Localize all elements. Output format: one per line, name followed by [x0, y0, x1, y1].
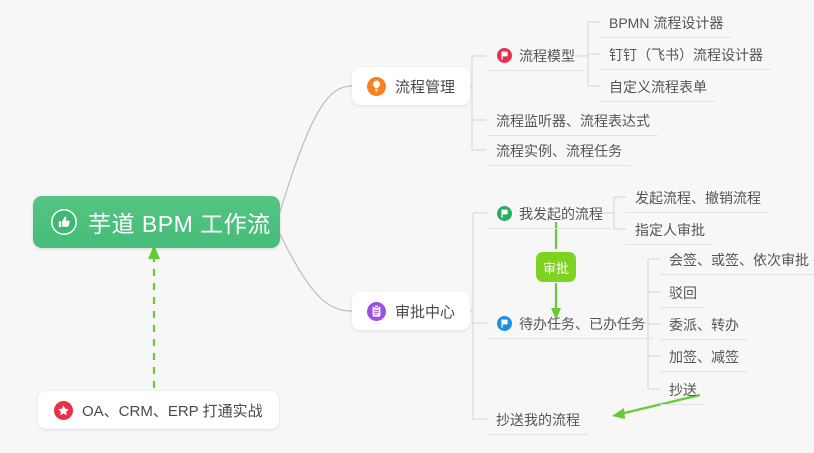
node-process-model[interactable]: 流程模型 [488, 41, 583, 71]
badge-label: 审批 [543, 258, 569, 277]
branch-process-management[interactable]: 流程管理 [352, 67, 470, 105]
node-add-remove-sign[interactable]: 加签、减签 [660, 342, 747, 372]
node-assigned-approval[interactable]: 指定人审批 [626, 215, 713, 245]
node-label: BPMN 流程设计器 [609, 16, 723, 30]
flag-icon [497, 316, 512, 331]
thumbs-up-icon [51, 209, 77, 235]
node-start-cancel-flow[interactable]: 发起流程、撤销流程 [626, 183, 769, 213]
node-cc-to-me-flow[interactable]: 抄送我的流程 [487, 405, 588, 435]
note-integration-practice[interactable]: OA、CRM、ERP 打通实战 [38, 391, 279, 429]
flag-icon [497, 48, 512, 63]
lightbulb-icon [367, 77, 386, 96]
branch-approval-center[interactable]: 审批中心 [352, 292, 470, 330]
node-countersign[interactable]: 会签、或签、依次审批 [660, 245, 814, 275]
node-label: 流程监听器、流程表达式 [496, 114, 650, 128]
node-label: 委派、转办 [669, 318, 739, 332]
node-label: 会签、或签、依次审批 [669, 253, 809, 267]
node-label: 钉钉（飞书）流程设计器 [609, 48, 763, 62]
link-root-to-process-management [280, 86, 352, 212]
branch-label: 审批中心 [395, 301, 455, 322]
node-process-listener[interactable]: 流程监听器、流程表达式 [487, 106, 658, 136]
note-label: OA、CRM、ERP 打通实战 [82, 400, 263, 421]
node-dingtalk-designer[interactable]: 钉钉（飞书）流程设计器 [600, 40, 771, 70]
emphasis-badge-approval[interactable]: 审批 [536, 252, 576, 282]
mindmap-canvas: 芋道 BPM 工作流 流程管理 流程模型 BPMN 流程设计器 钉钉（飞书）流程… [0, 0, 814, 453]
node-bpmn-designer[interactable]: BPMN 流程设计器 [600, 8, 731, 38]
node-label: 抄送我的流程 [496, 413, 580, 427]
arrowhead-cc-to-ccflow [612, 408, 625, 419]
node-label: 发起流程、撤销流程 [635, 191, 761, 205]
node-my-initiated[interactable]: 我发起的流程 [488, 199, 611, 229]
node-reject[interactable]: 驳回 [660, 278, 705, 308]
node-custom-form[interactable]: 自定义流程表单 [600, 72, 715, 102]
root-label: 芋道 BPM 工作流 [88, 205, 271, 239]
root-node[interactable]: 芋道 BPM 工作流 [33, 196, 280, 248]
node-process-instance[interactable]: 流程实例、流程任务 [487, 136, 630, 166]
node-carbon-copy[interactable]: 抄送 [660, 375, 705, 405]
star-icon [54, 401, 73, 420]
node-label: 流程模型 [519, 49, 575, 63]
node-label: 流程实例、流程任务 [496, 144, 622, 158]
node-delegate-transfer[interactable]: 委派、转办 [660, 310, 747, 340]
branch-label: 流程管理 [395, 76, 455, 97]
node-todo-done-tasks[interactable]: 待办任务、已办任务 [488, 309, 653, 339]
flag-icon [497, 206, 512, 221]
node-label: 我发起的流程 [519, 207, 603, 221]
node-label: 加签、减签 [669, 350, 739, 364]
link-root-to-approval-center [280, 234, 352, 311]
node-label: 待办任务、已办任务 [519, 317, 645, 331]
node-label: 指定人审批 [635, 223, 705, 237]
clipboard-icon [367, 302, 386, 321]
node-label: 驳回 [669, 286, 697, 300]
node-label: 自定义流程表单 [609, 80, 707, 94]
node-label: 抄送 [669, 383, 697, 397]
